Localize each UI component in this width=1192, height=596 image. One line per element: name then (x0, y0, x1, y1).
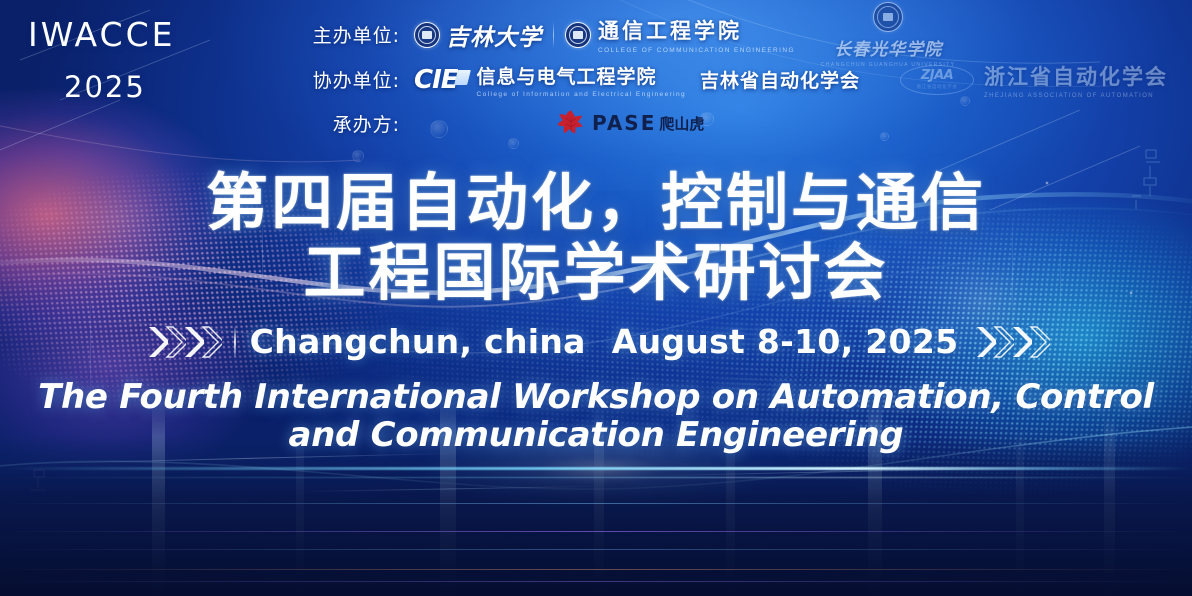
communication-engineering-name: 通信工程学院 (598, 15, 795, 45)
organizer-row-host: 主办单位: 吉林大学 通信工程学院 COLLEGE OF COMMUNICATI… (290, 12, 1182, 57)
title-line-2: 工程国际学术研讨会 (0, 238, 1192, 308)
zjaa-name-en: ZHEJIANG ASSOCIATION OF AUTOMATION (984, 93, 1168, 99)
subtitle-line-1: The Fourth International Workshop on Aut… (0, 378, 1192, 416)
pase-leaf-icon (556, 109, 586, 137)
logo-jilin-university: 吉林大学 (414, 18, 542, 52)
changchun-guanghua-seal-icon (873, 2, 903, 32)
organizer-row-coorganizer: 协办单位: CIE 信息与电气工程学院 College of Informati… (290, 57, 1182, 102)
organizer-credits: 主办单位: 吉林大学 通信工程学院 COLLEGE OF COMMUNICATI… (290, 12, 1182, 144)
communication-engineering-seal-icon (565, 22, 591, 48)
main-title: 第四届自动化，控制与通信 工程国际学术研讨会 (0, 168, 1192, 308)
ciee-name: 信息与电气工程学院 (477, 62, 687, 89)
logo-ciee: CIE 信息与电气工程学院 College of Information and… (414, 62, 686, 98)
jilin-automation-society-name: 吉林省自动化学会 (700, 66, 860, 93)
event-acronym-logo: IWACCE 2025 (28, 18, 248, 102)
jilin-university-name: 吉林大学 (446, 18, 542, 52)
host-label: 主办单位: (290, 21, 414, 48)
floor-line (0, 531, 1192, 532)
organizer-row-undertaker: 承办方: PASE 爬山虎 (290, 102, 1182, 144)
location-separator (234, 327, 236, 357)
logo-pase: PASE 爬山虎 (556, 109, 704, 137)
jilin-university-seal-icon (414, 22, 440, 48)
chevron-right-outline-icon (1028, 325, 1050, 359)
zjaa-name: 浙江省自动化学会 (984, 61, 1168, 91)
zjaa-letters: ZJAA (921, 69, 953, 82)
floor-line (0, 503, 1192, 504)
subtitle-line-2: and Communication Engineering (0, 416, 1192, 454)
communication-engineering-name-en: COLLEGE OF COMMUNICATION ENGINEERING (598, 47, 795, 54)
bokeh-dot (352, 150, 364, 162)
floor-line (0, 569, 1192, 570)
event-location-date-row: Changchun, china August 8-10, 2025 (0, 322, 1192, 361)
chevron-group-right (974, 325, 1046, 359)
logo-communication-engineering: 通信工程学院 COLLEGE OF COMMUNICATION ENGINEER… (565, 15, 795, 54)
conference-banner: IWACCE 2025 主办单位: 吉林大学 通信工程学院 COLLEGE (0, 0, 1192, 596)
ciee-wordmark-icon: CIE (414, 65, 469, 95)
logo-zjaa: ZJAA 浙江省自动化学会 浙江省自动化学会 ZHEJIANG ASSOCIAT… (900, 61, 1168, 99)
ciee-name-en: College of Information and Electrical En… (477, 91, 687, 98)
logo-divider (553, 22, 554, 48)
english-subtitle: The Fourth International Workshop on Aut… (0, 378, 1192, 454)
acronym-text: IWACCE (28, 18, 248, 51)
title-line-1: 第四届自动化，控制与通信 (0, 168, 1192, 238)
floor-line (0, 549, 1192, 550)
pase-name-cn: 爬山虎 (659, 113, 704, 134)
chevron-group-left (146, 325, 218, 359)
changchun-guanghua-name: 长春光华学院 (834, 35, 942, 60)
logo-changchun-guanghua: 长春光华学院 CHANGCHUN GUANGHUA UNIVERSITY (821, 2, 956, 68)
ciee-letters: CIE (414, 65, 458, 95)
event-location: Changchun, china (250, 322, 586, 361)
event-dates: August 8-10, 2025 (612, 322, 959, 361)
floor-line (0, 581, 1192, 582)
undertaker-label: 承办方: (290, 110, 414, 137)
acronym-year: 2025 (64, 73, 248, 102)
coorganizer-label: 协办单位: (290, 66, 414, 93)
floor-horizon-glow (0, 477, 1192, 478)
zjaa-oval-icon: ZJAA 浙江省自动化学会 (900, 65, 974, 95)
pase-wordmark: PASE (592, 111, 656, 135)
chevron-right-outline-icon (200, 325, 222, 359)
zjaa-sub: 浙江省自动化学会 (917, 84, 958, 90)
